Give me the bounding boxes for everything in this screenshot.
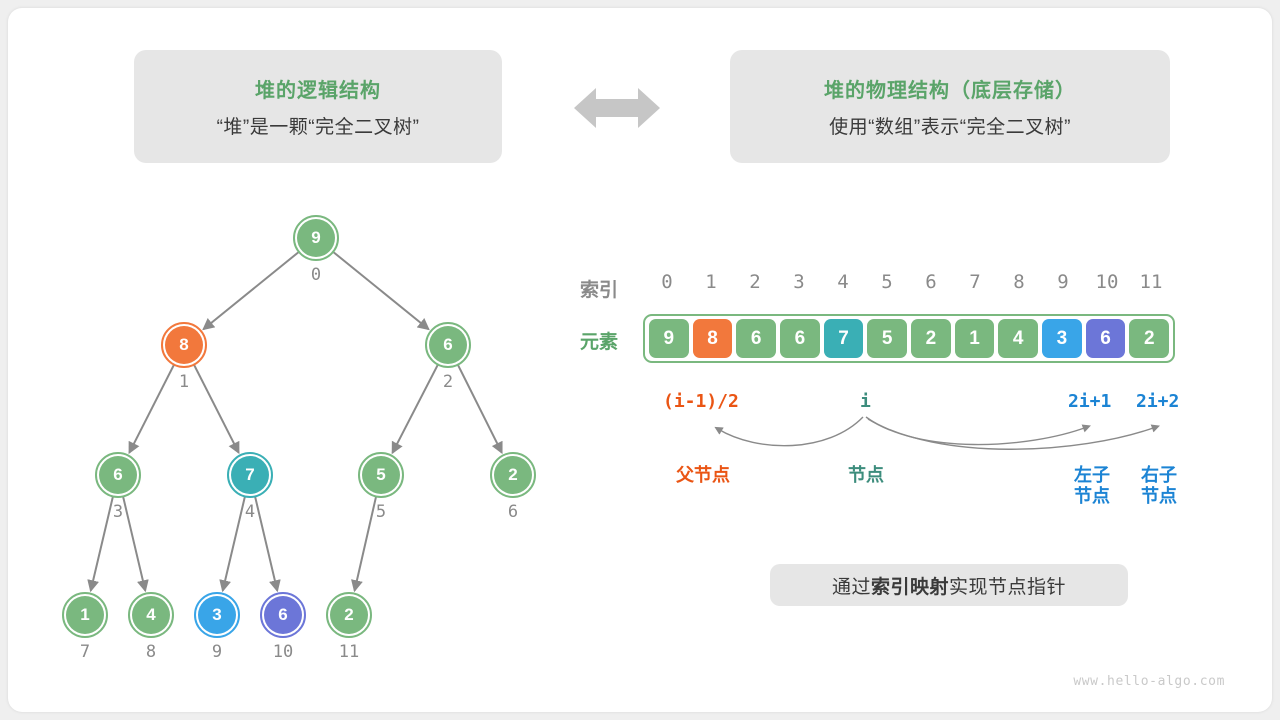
array-index-tick: 6 (911, 271, 951, 293)
array-index-tick: 8 (999, 271, 1039, 293)
tree-node: 4 (132, 596, 170, 634)
array-index-tick: 9 (1043, 271, 1083, 293)
tree-node-index-label: 3 (103, 502, 133, 522)
array-cell: 7 (824, 319, 864, 358)
tree-node: 6 (429, 326, 467, 364)
caption-prefix: 通过 (832, 572, 871, 599)
array-cell: 6 (1086, 319, 1126, 358)
caption-emphasis: 索引映射 (871, 572, 949, 599)
array-index-tick: 10 (1087, 271, 1127, 293)
array-cell: 1 (955, 319, 995, 358)
array-index-tick: 4 (823, 271, 863, 293)
array-index-tick: 5 (867, 271, 907, 293)
right-child-role-label: 右子 节点 (1130, 465, 1188, 507)
tree-node: 2 (330, 596, 368, 634)
parent-role-label: 父节点 (663, 465, 743, 486)
array-cell: 5 (867, 319, 907, 358)
tree-node-index-label: 1 (169, 372, 199, 392)
tree-node-index-label: 6 (498, 502, 528, 522)
array-cell: 6 (736, 319, 776, 358)
tree-node: 6 (264, 596, 302, 634)
tree-node-index-label: 9 (202, 642, 232, 662)
mapping-arrows (608, 409, 1228, 469)
diagram-canvas: 堆的逻辑结构 “堆”是一颗“完全二叉树” 堆的物理结构（底层存储） 使用“数组”… (8, 8, 1272, 712)
tree-node: 7 (231, 456, 269, 494)
tree-node-index-label: 2 (433, 372, 463, 392)
tree-node: 6 (99, 456, 137, 494)
tree-node: 8 (165, 326, 203, 364)
array-cell: 4 (998, 319, 1038, 358)
tree-node: 5 (362, 456, 400, 494)
tree-node-index-label: 7 (70, 642, 100, 662)
array-cell: 2 (1129, 319, 1169, 358)
array-index-tick: 1 (691, 271, 731, 293)
tree-node-index-label: 11 (334, 642, 364, 662)
tree-node-index-label: 0 (301, 265, 331, 285)
tree-node-group: 90816263745526174839610211 (8, 8, 608, 712)
tree-node-index-label: 5 (366, 502, 396, 522)
array-index-tick: 7 (955, 271, 995, 293)
array-index-tick: 11 (1131, 271, 1171, 293)
array-element-row-label: 元素 (580, 327, 618, 354)
array-index-row-label: 索引 (580, 275, 618, 302)
tree-node-index-label: 4 (235, 502, 265, 522)
tree-node: 3 (198, 596, 236, 634)
array-index-tick: 3 (779, 271, 819, 293)
array-representation: 索引 元素 01234567891011 986675214362 (568, 263, 1228, 378)
node-role-label: 节点 (836, 465, 896, 486)
array-cell: 6 (780, 319, 820, 358)
caption-suffix: 实现节点指针 (949, 572, 1066, 599)
watermark: www.hello-algo.com (1073, 674, 1225, 689)
caption-index-mapping: 通过索引映射实现节点指针 (770, 564, 1128, 606)
index-mapping-formulas: (i-1)/2 i 2i+1 2i+2 父节点 节点 左子 节点 右子 节点 (608, 383, 1228, 513)
tree-node-index-label: 8 (136, 642, 166, 662)
tree-node: 2 (494, 456, 532, 494)
tree-node: 9 (297, 219, 335, 257)
physical-structure-subtitle: 使用“数组”表示“完全二叉树” (829, 112, 1071, 139)
physical-structure-title: 堆的物理结构（底层存储） (824, 74, 1076, 103)
left-child-role-label: 左子 节点 (1063, 465, 1121, 507)
array-index-tick: 0 (647, 271, 687, 293)
array-index-tick: 2 (735, 271, 775, 293)
array-cell: 8 (693, 319, 733, 358)
tree-node: 1 (66, 596, 104, 634)
array-container: 986675214362 (643, 314, 1175, 363)
tree-node-index-label: 10 (268, 642, 298, 662)
binary-tree: 90816263745526174839610211 (8, 8, 608, 712)
physical-structure-header: 堆的物理结构（底层存储） 使用“数组”表示“完全二叉树” (730, 50, 1170, 163)
array-cell: 2 (911, 319, 951, 358)
array-cell: 9 (649, 319, 689, 358)
array-cell: 3 (1042, 319, 1082, 358)
